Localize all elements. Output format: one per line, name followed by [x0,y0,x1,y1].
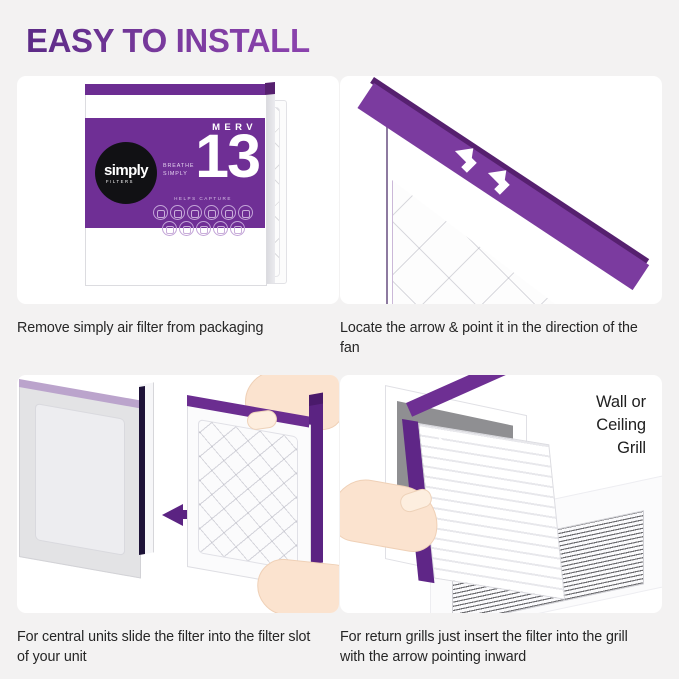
return-grill-scene: ▴▴ Wall or Ceiling Grill [340,375,662,613]
hvac-unit-panel [35,403,125,556]
step-3-caption: For central units slide the filter into … [17,627,317,668]
wall-or-ceiling-grill-label: Wall or Ceiling Grill [596,391,646,459]
hand-lower [254,556,339,613]
capture-badge-icon [204,205,219,220]
quilted-filter-pattern [198,419,298,571]
filter-side-edge [309,401,323,565]
arrow-direction-scene [340,76,662,304]
step-4-illustration-card: ▴▴ Wall or Ceiling Grill [340,375,662,613]
central-unit-scene [17,375,339,613]
step-4-caption: For return grills just insert the filter… [340,627,640,668]
step-card-1: simply FILTERS BREATHE SIMPLY MERV 13 HE… [17,76,339,338]
page-title: EASY TO INSTALL [26,24,310,57]
filter-package: simply FILTERS BREATHE SIMPLY MERV 13 HE… [77,84,292,299]
helps-capture-label: HELPS CAPTURE [149,196,257,201]
step-1-caption: Remove simply air filter from packaging [17,318,317,338]
brand-sub-text: FILTERS [106,179,134,184]
capture-badge-row-1 [149,205,257,220]
grill-label-line-2: Ceiling [596,414,646,437]
capture-badge-icon [213,221,228,236]
box-purple-label-band: simply FILTERS BREATHE SIMPLY MERV 13 HE… [85,118,265,228]
tagline-line-1: BREATHE [163,162,194,170]
step-3-illustration-card [17,375,339,613]
steps-grid: simply FILTERS BREATHE SIMPLY MERV 13 HE… [0,76,679,676]
brand-logo-badge: simply FILTERS [95,142,157,204]
capture-badge-icon [230,221,245,236]
capture-badge-icon [179,221,194,236]
capture-badge-grid [149,204,257,236]
insert-direction-arrow-icon [162,504,183,526]
grill-label-line-1: Wall or [596,391,646,414]
capture-badge-icon [170,205,185,220]
tagline-line-2: SIMPLY [163,170,194,178]
step-card-2: Locate the arrow & point it in the direc… [340,76,662,359]
capture-badge-icon [153,205,168,220]
infographic-page: EASY TO INSTALL s [0,0,679,679]
merv-rating-number: 13 [195,126,259,187]
tagline-block: BREATHE SIMPLY [163,162,194,179]
step-2-illustration-card [340,76,662,304]
box-side-top-strip [265,82,275,95]
filter-slot-opening [139,386,145,555]
grill-label-line-3: Grill [596,437,646,460]
capture-badge-icon [196,221,211,236]
capture-badge-icon [238,205,253,220]
filter-left-edge [386,120,388,304]
step-2-caption: Locate the arrow & point it in the direc… [340,318,640,359]
filter-front-face [418,423,565,600]
packaging-scene: simply FILTERS BREATHE SIMPLY MERV 13 HE… [17,76,339,304]
capture-badge-icon [221,205,236,220]
step-card-4: ▴▴ Wall or Ceiling Grill For return gril… [340,375,662,668]
box-top-purple-strip [85,84,265,95]
capture-badge-row-2 [149,221,257,236]
step-1-illustration-card: simply FILTERS BREATHE SIMPLY MERV 13 HE… [17,76,339,304]
capture-badge-icon [162,221,177,236]
brand-name-text: simply [104,163,148,178]
capture-badge-icon [187,205,202,220]
step-card-3: For central units slide the filter into … [17,375,339,668]
